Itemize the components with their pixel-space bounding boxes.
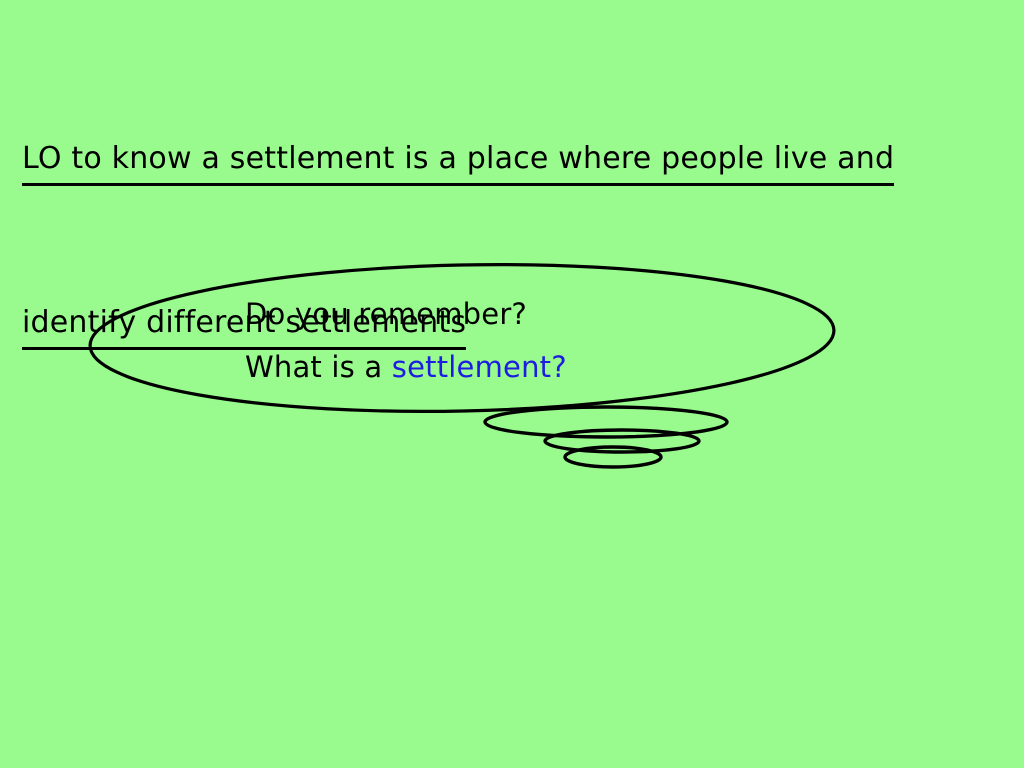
thought-bubble: Do you remember? What is a settlement? bbox=[70, 240, 880, 490]
bubble-line-2-prefix: What is a bbox=[245, 350, 392, 384]
slide-canvas: LO to know a settlement is a place where… bbox=[0, 0, 1024, 768]
thought-bubble-text: Do you remember? What is a settlement? bbox=[245, 288, 805, 394]
lo-line-1-text: LO to know a settlement is a place where… bbox=[22, 132, 894, 188]
bubble-line-2: What is a settlement? bbox=[245, 341, 805, 394]
thought-bubble-tail-small bbox=[565, 447, 661, 467]
keyword-settlement: settlement? bbox=[392, 350, 567, 384]
lo-line-1: LO to know a settlement is a place where… bbox=[22, 132, 952, 188]
bubble-line-1: Do you remember? bbox=[245, 288, 805, 341]
thought-bubble-tail-large bbox=[485, 407, 727, 437]
